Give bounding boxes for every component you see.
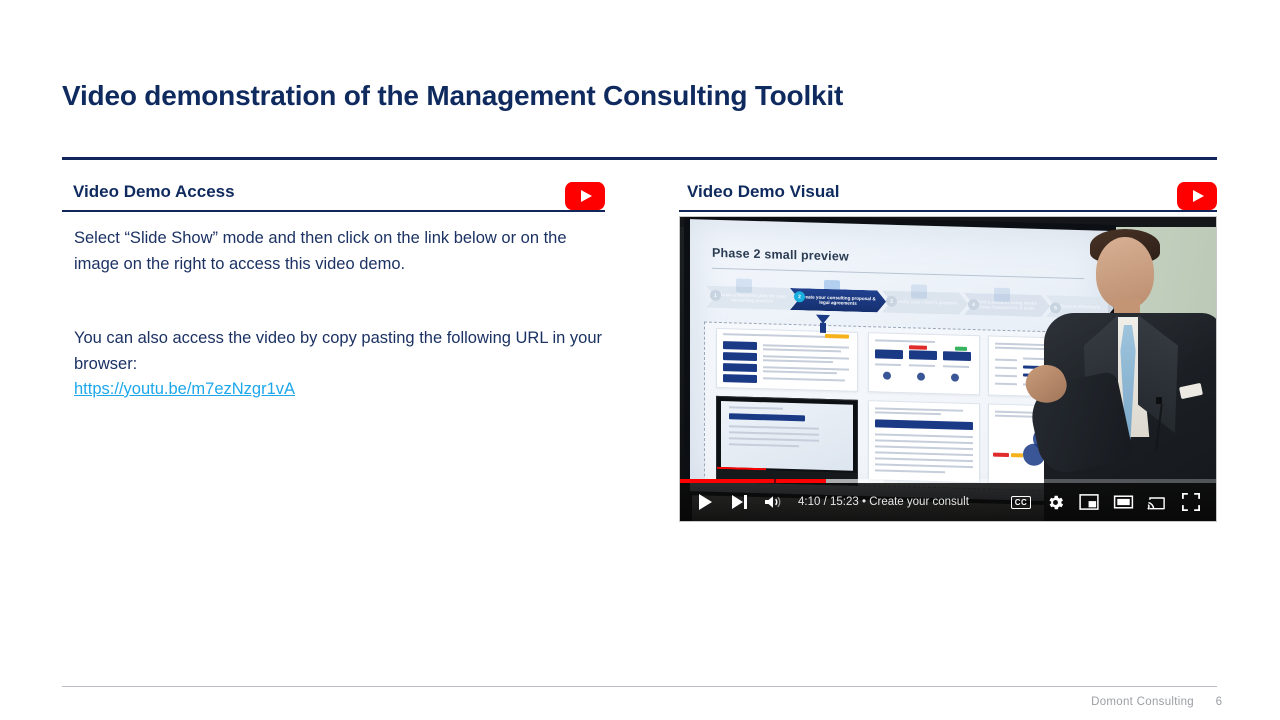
page-title: Video demonstration of the Management Co… — [62, 78, 1162, 114]
play-triangle-icon — [581, 190, 592, 202]
left-section-header: Video Demo Access — [62, 182, 605, 212]
cc-label: CC — [1011, 496, 1032, 509]
title-divider — [62, 157, 1217, 160]
fullscreen-icon[interactable] — [1174, 483, 1208, 521]
step-badge-2: 2 — [794, 291, 805, 302]
video-demo-access-column: Video Demo Access Select “Slide Show” mo… — [62, 182, 605, 212]
slide-inset-video-thumbnail — [716, 396, 858, 486]
instruction-paragraph: Select “Slide Show” mode and then click … — [74, 226, 602, 277]
video-url-link[interactable]: https://youtu.be/m7ezNzgr1vA — [74, 380, 295, 398]
right-section-header: Video Demo Visual — [679, 182, 1217, 212]
play-triangle-icon — [1193, 190, 1204, 202]
next-video-icon[interactable] — [722, 483, 756, 521]
url-paragraph: You can also access the video by copy pa… — [74, 326, 602, 403]
right-section-title: Video Demo Visual — [687, 182, 839, 202]
projected-slide-title: Phase 2 small preview — [712, 246, 849, 264]
slide-thumbnail-b — [868, 332, 980, 395]
slide-thumbnail-a — [716, 328, 858, 392]
left-section-divider — [62, 210, 605, 212]
youtube-play-icon-right[interactable] — [1177, 182, 1217, 210]
down-arrow-icon — [816, 315, 830, 324]
video-chapter-title: Create your consult — [869, 496, 969, 508]
step-badge-4: 4 — [968, 299, 979, 310]
cast-icon[interactable] — [1140, 483, 1174, 521]
video-player[interactable]: Phase 2 small preview Create a business … — [679, 216, 1217, 522]
youtube-play-icon-left[interactable] — [565, 182, 605, 210]
footer-divider — [62, 686, 1217, 687]
miniplayer-icon[interactable] — [1072, 483, 1106, 521]
presenter-person — [1034, 229, 1216, 521]
process-step-2: Create your consulting proposal & legal … — [790, 288, 886, 313]
video-time-display: 4:10 / 15:23 • Create your consult — [798, 496, 969, 508]
footer-page-number: 6 — [1216, 696, 1222, 708]
video-frame-image: Phase 2 small preview Create a business … — [680, 217, 1216, 521]
projected-slide-divider — [712, 268, 1084, 279]
step-badge-1: 1 — [710, 290, 721, 301]
footer-brand: Domont Consulting — [1091, 696, 1194, 708]
presenter-lapel-mic — [1156, 397, 1162, 404]
volume-icon[interactable] — [756, 483, 790, 521]
step-badge-3: 3 — [886, 296, 897, 307]
url-paragraph-text: You can also access the video by copy pa… — [74, 329, 602, 373]
subtitles-cc-icon[interactable]: CC — [1004, 483, 1038, 521]
step-icon-3 — [911, 284, 927, 298]
slide-thumbnail-d — [868, 400, 980, 483]
left-section-title: Video Demo Access — [73, 182, 235, 202]
video-controls-bar: 4:10 / 15:23 • Create your consult CC — [680, 483, 1216, 521]
step-icon-1 — [736, 278, 752, 292]
settings-gear-icon[interactable] — [1038, 483, 1072, 521]
right-section-divider — [679, 210, 1217, 212]
play-icon[interactable] — [688, 483, 722, 521]
time-separator: • — [862, 496, 866, 508]
slide-canvas: Video demonstration of the Management Co… — [0, 0, 1280, 720]
down-arrow-stem — [820, 323, 826, 333]
step-icon-4 — [994, 288, 1010, 302]
inset-video-screen — [721, 401, 853, 471]
theater-mode-icon[interactable] — [1106, 483, 1140, 521]
video-demo-visual-column: Video Demo Visual Phase 2 small preview … — [679, 182, 1217, 212]
time-current-duration: 4:10 / 15:23 — [798, 496, 859, 508]
